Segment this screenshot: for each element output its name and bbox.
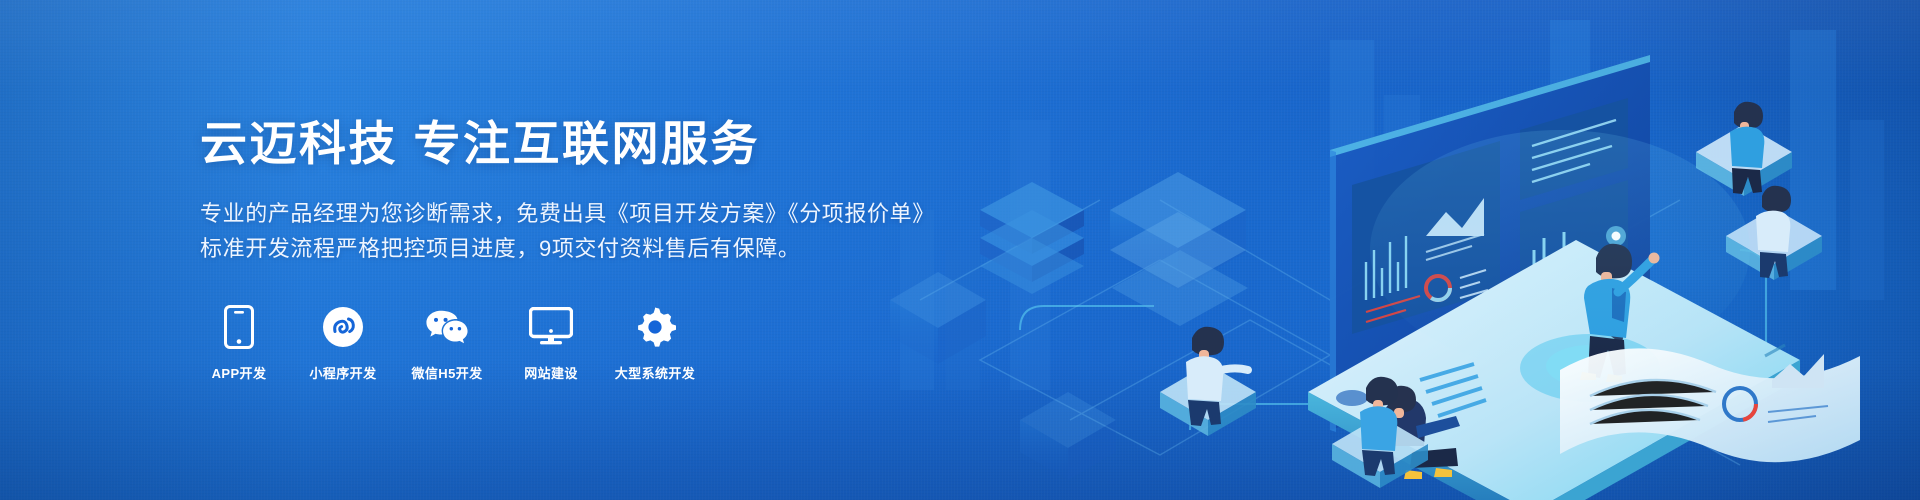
service-item-app[interactable]: APP开发 bbox=[200, 305, 278, 382]
gear-icon bbox=[633, 305, 677, 349]
banner-subtitle: 专业的产品经理为您诊断需求，免费出具《项目开发方案》《分项报价单》 标准开发流程… bbox=[200, 196, 935, 267]
service-list: APP开发 小程序开发 bbox=[200, 305, 935, 382]
isometric-tech-dashboard-illustration bbox=[860, 0, 1920, 500]
banner-content: 云迈科技 专注互联网服务 专业的产品经理为您诊断需求，免费出具《项目开发方案》《… bbox=[200, 0, 935, 500]
service-label: 网站建设 bbox=[524, 363, 578, 382]
mobile-phone-icon bbox=[217, 305, 261, 349]
wechat-icon bbox=[425, 305, 469, 349]
mini-program-icon bbox=[321, 305, 365, 349]
service-item-wechat-h5[interactable]: 微信H5开发 bbox=[408, 305, 486, 382]
subtitle-line-1: 专业的产品经理为您诊断需求，免费出具《项目开发方案》《分项报价单》 bbox=[200, 196, 935, 232]
service-item-mini-program[interactable]: 小程序开发 bbox=[304, 305, 382, 382]
hero-banner: 云迈科技 专注互联网服务 专业的产品经理为您诊断需求，免费出具《项目开发方案》《… bbox=[0, 0, 1920, 500]
service-label: 小程序开发 bbox=[309, 363, 376, 382]
page-title: 云迈科技 专注互联网服务 bbox=[200, 118, 935, 170]
server-stack bbox=[980, 182, 1084, 294]
person-pair-front bbox=[1160, 327, 1256, 436]
service-item-large-system[interactable]: 大型系统开发 bbox=[616, 305, 694, 382]
service-label: 大型系统开发 bbox=[615, 363, 695, 382]
service-label: APP开发 bbox=[212, 363, 267, 382]
monitor-icon bbox=[529, 305, 573, 349]
subtitle-line-2: 标准开发流程严格把控项目进度，9项交付资料售后有保障。 bbox=[200, 231, 935, 267]
service-item-website[interactable]: 网站建设 bbox=[512, 305, 590, 382]
service-label: 微信H5开发 bbox=[411, 363, 482, 382]
